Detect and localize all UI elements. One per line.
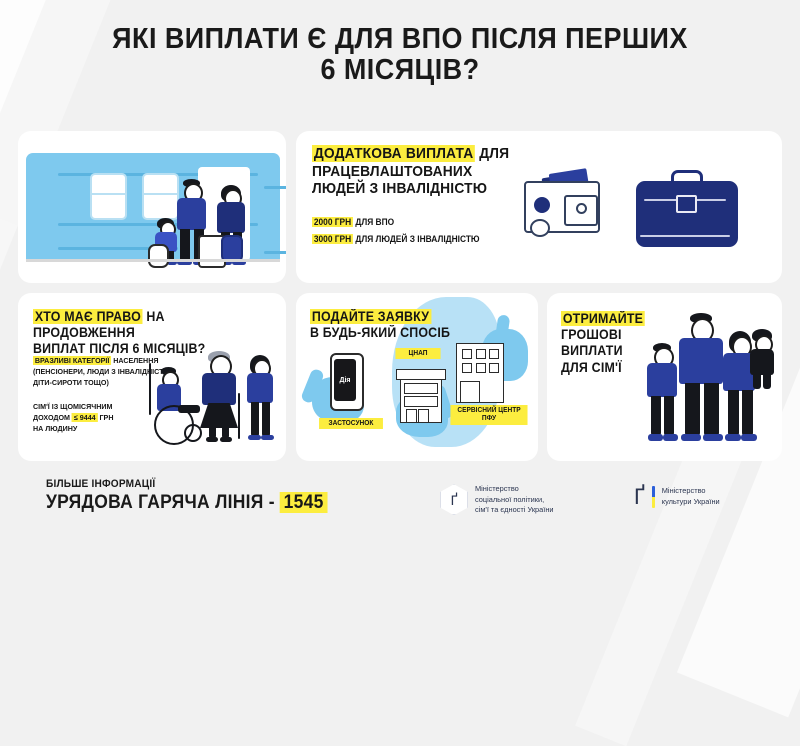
footer-more-info-label: БІЛЬШЕ ІНФОРМАЦІЇ — [46, 478, 327, 490]
logo-culture-line1: Міністерство — [662, 486, 720, 497]
flag-divider-icon — [652, 486, 655, 508]
card-who-qualifies: ХТО МАЄ ПРАВО НА ПРОДОВЖЕННЯ ВИПЛАТ ПІСЛ… — [18, 293, 286, 461]
logo-ministry-culture: Ґ Міністерство культури України — [634, 486, 720, 508]
payment-heading-highlight: ДОДАТКОВА ВИПЛАТА — [312, 145, 475, 162]
logo-social-line1: Міністерство — [475, 484, 554, 495]
payment-amount-label: ДЛЯ ВПО — [353, 217, 394, 227]
logo-social-line2: соціальної політики, — [475, 495, 554, 506]
receive-heading-line2: ГРОШОВІ — [561, 327, 649, 343]
logo-culture-text: Міністерство культури України — [662, 486, 720, 507]
logo-social-line3: сім'ї та єдності України — [475, 505, 554, 516]
receive-heading-line3: ВИПЛАТИ — [561, 343, 649, 359]
who-para2-highlight: ≤ 9444 — [72, 413, 98, 422]
tryzub-icon: Ґ — [634, 486, 645, 508]
page-title: ЯКІ ВИПЛАТИ Є ДЛЯ ВПО ПІСЛЯ ПЕРШИХ 6 МІС… — [28, 24, 772, 87]
train-window — [142, 173, 179, 220]
apply-heading-line2: В БУДЬ-ЯКИЙ СПОСІБ — [310, 325, 512, 341]
train-detail-line — [264, 186, 286, 189]
background-swoosh-bottom-right-2 — [575, 420, 750, 746]
tryzub-hex-icon: Ґ — [440, 484, 468, 515]
receive-heading-line4: ДЛЯ СІМ'Ї — [561, 360, 649, 376]
tag-cnap: ЦНАП — [395, 348, 440, 359]
logo-ministry-social-policy: Ґ Міністерство соціальної політики, сім'… — [440, 484, 554, 516]
payment-heading-line2: ЛЮДЕЙ З ІНВАЛІДНІСТЮ — [312, 180, 652, 198]
apply-heading-line1: ПОДАЙТЕ ЗАЯВКУ — [310, 309, 512, 325]
receive-heading-highlight: ОТРИМАЙТЕ — [561, 311, 645, 326]
who-heading-highlight: ХТО МАЄ ПРАВО — [33, 309, 143, 324]
payment-amount-row: 3000 ГРН ДЛЯ ЛЮДЕЙ З ІНВАЛІДНІСТЮ — [312, 234, 480, 244]
payment-heading-line1: ДОДАТКОВА ВИПЛАТА ДЛЯ ПРАЦЕВЛАШТОВАНИХ — [312, 145, 652, 180]
payment-amount-row: 2000 ГРН ДЛЯ ВПО — [312, 217, 480, 227]
card-train-illustration — [18, 131, 286, 283]
train-detail-line — [264, 251, 286, 254]
card-receive-payments: ОТРИМАЙТЕ ГРОШОВІ ВИПЛАТИ ДЛЯ СІМ'Ї — [547, 293, 782, 461]
who-heading-line1: ХТО МАЄ ПРАВО НА ПРОДОВЖЕННЯ — [33, 309, 263, 341]
who-para2-pre: ДОХОДОМ — [33, 413, 72, 422]
tryzub-glyph: Ґ — [451, 493, 458, 507]
footer-hotline-number: 1545 — [280, 492, 327, 513]
payment-amount-value: 2000 ГРН — [312, 217, 353, 227]
luggage-backpack — [221, 235, 243, 262]
logo-culture-line2: культури України — [662, 497, 720, 508]
card-apply-methods: ПОДАЙТЕ ЗАЯВКУ В БУДЬ-ЯКИЙ СПОСІБ Дія ЗА… — [296, 293, 538, 461]
train-window — [90, 173, 127, 220]
who-para2-post: ГРН — [98, 413, 114, 422]
footer-hotline-block: БІЛЬШЕ ІНФОРМАЦІЇ УРЯДОВА ГАРЯЧА ЛІНІЯ -… — [46, 478, 352, 514]
cnap-building-roof — [396, 369, 446, 380]
phone-screen[interactable]: Дія — [334, 359, 356, 401]
infographic-canvas: ЯКІ ВИПЛАТИ Є ДЛЯ ВПО ПІСЛЯ ПЕРШИХ 6 МІС… — [0, 0, 800, 538]
apply-heading-highlight: ПОДАЙТЕ ЗАЯВКУ — [310, 309, 431, 324]
card-additional-payment: ДОДАТКОВА ВИПЛАТА ДЛЯ ПРАЦЕВЛАШТОВАНИХ Л… — [296, 131, 782, 283]
tag-app: ЗАСТОСУНОК — [319, 418, 383, 429]
who-para1-highlight: ВРАЗЛИВІ КАТЕГОРІЇ — [33, 356, 111, 365]
tag-pfu: СЕРВІСНИЙ ЦЕНТР ПФУ — [450, 405, 527, 425]
footer-hotline: УРЯДОВА ГАРЯЧА ЛІНІЯ - 1545 — [46, 492, 327, 514]
receive-heading-line1: ОТРИМАЙТЕ — [561, 311, 649, 327]
logo-social-text: Міністерство соціальної політики, сім'ї … — [475, 484, 554, 516]
footer-hotline-label: УРЯДОВА ГАРЯЧА ЛІНІЯ - — [46, 492, 280, 513]
platform-ground-line — [26, 259, 280, 262]
payment-amount-value: 3000 ГРН — [312, 234, 353, 244]
train-scene — [18, 131, 286, 283]
phone-app-name: Дія — [339, 377, 350, 384]
luggage-small-bag — [148, 244, 169, 268]
payment-amount-label: ДЛЯ ЛЮДЕЙ З ІНВАЛІДНІСТЮ — [353, 234, 480, 244]
who-para1-rest: НАСЕЛЕННЯ — [111, 356, 158, 365]
